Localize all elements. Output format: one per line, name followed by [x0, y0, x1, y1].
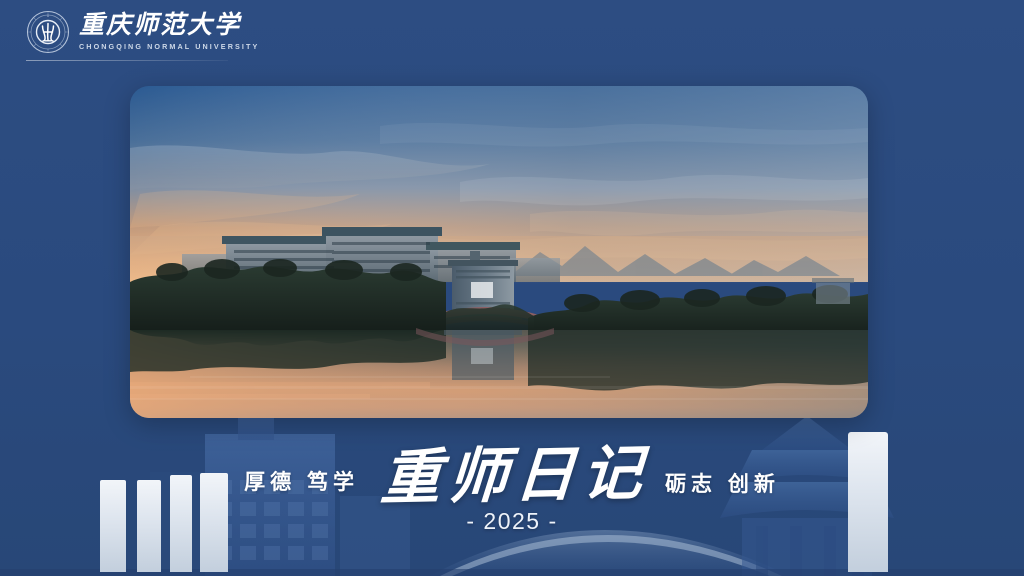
slide-root: ★ 重庆师范大学 CHONGQING NORMAL UNI	[0, 0, 1024, 576]
campus-photo	[130, 86, 868, 418]
brand-text-group: 重庆师范大学 CHONGQING NORMAL UNIVERSITY	[79, 13, 259, 51]
motto-right: 砺志 创新	[665, 468, 780, 498]
university-seal-icon: ★	[26, 10, 70, 54]
footer-title-row: 厚德 笃学 重师日记 砺志 创新	[0, 446, 1024, 506]
university-name-cn: 重庆师范大学	[79, 13, 259, 39]
header-divider	[26, 60, 228, 61]
year-label: - 2025 -	[466, 508, 557, 534]
university-name-en: CHONGQING NORMAL UNIVERSITY	[79, 42, 259, 51]
footer-year-row: - 2025 -	[0, 508, 1024, 535]
campus-photo-image	[130, 86, 868, 418]
motto-left: 厚德 笃学	[244, 466, 359, 496]
header-logo-group: ★ 重庆师范大学 CHONGQING NORMAL UNI	[26, 10, 259, 54]
diary-title: 重师日记	[379, 443, 651, 509]
footer-title-band: 厚德 笃学 重师日记 砺志 创新 - 2025 -	[0, 446, 1024, 556]
